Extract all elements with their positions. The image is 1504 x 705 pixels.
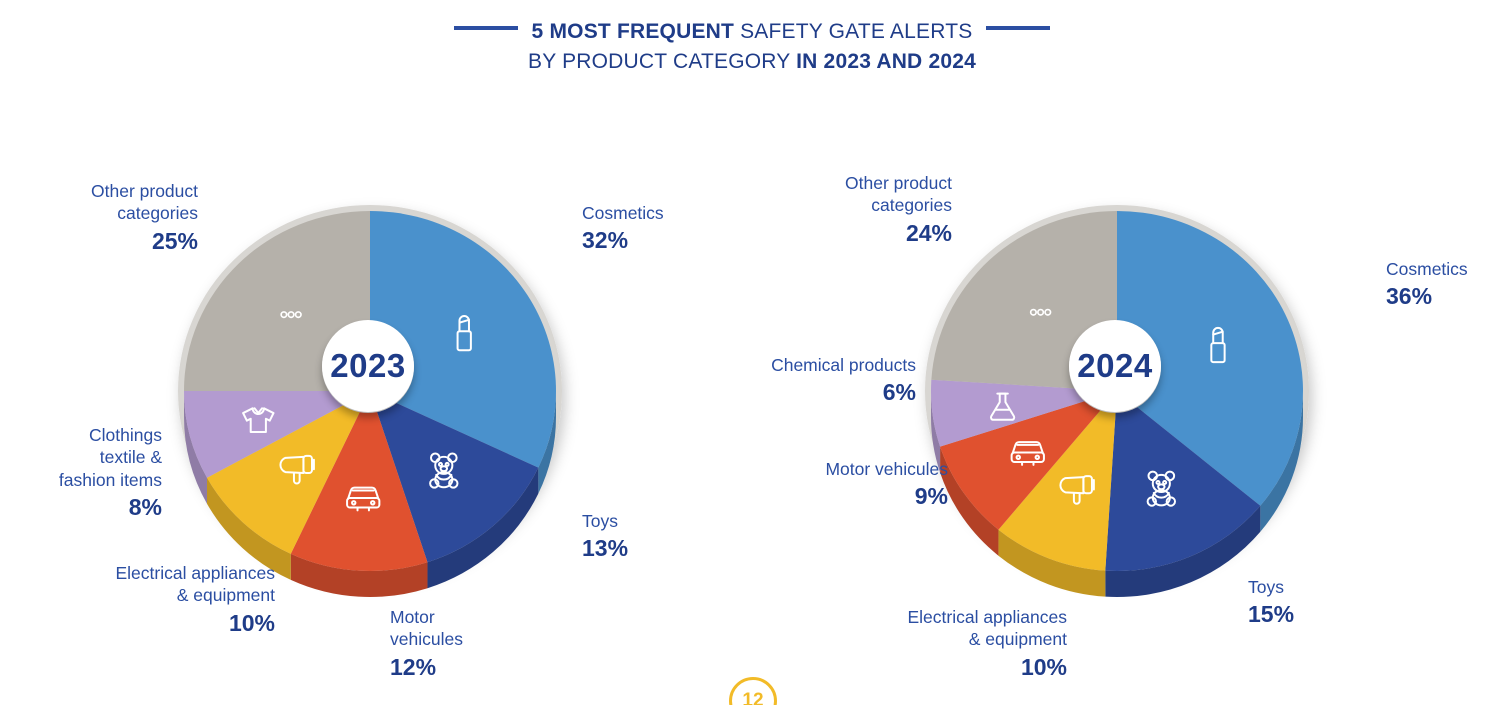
year-badge-2024: 2024: [1069, 320, 1161, 412]
label-cosmetics-2023: Cosmetics 32%: [582, 202, 752, 256]
label-motor-2024: Motor vehicules 9%: [780, 458, 948, 512]
value-motor-2024: 9%: [780, 482, 948, 511]
value-other-2023: 25%: [48, 227, 198, 256]
label-toys-2024: Toys 15%: [1248, 576, 1378, 630]
title-bold-1: 5 MOST FREQUENT: [532, 20, 735, 43]
title-normal-2: BY PRODUCT CATEGORY: [528, 50, 796, 73]
label-electrical-2023: Electrical appliances & equipment 10%: [55, 562, 275, 638]
page-title: 5 MOST FREQUENT SAFETY GATE ALERTS BY PR…: [0, 18, 1504, 75]
value-cosmetics-2024: 36%: [1386, 282, 1504, 311]
value-other-2024: 24%: [800, 219, 952, 248]
value-clothing-2023: 8%: [22, 493, 162, 522]
label-chemical-2024: Chemical products 6%: [718, 354, 916, 408]
title-rule-right: [986, 26, 1050, 30]
label-cosmetics-2024: Cosmetics 36%: [1386, 258, 1504, 312]
title-rule-left: [454, 26, 518, 30]
title-line-2: BY PRODUCT CATEGORY IN 2023 AND 2024: [0, 48, 1504, 76]
value-electrical-2024: 10%: [845, 653, 1067, 682]
value-toys-2023: 13%: [582, 534, 732, 563]
label-toys-2023: Toys 13%: [582, 510, 732, 564]
label-other-2024: Other product categories 24%: [800, 172, 952, 248]
value-electrical-2023: 10%: [55, 609, 275, 638]
value-toys-2024: 15%: [1248, 600, 1378, 629]
value-motor-2023: 12%: [390, 653, 540, 682]
label-other-2023: Other product categories 25%: [48, 180, 198, 256]
title-line-1: 5 MOST FREQUENT SAFETY GATE ALERTS: [0, 18, 1504, 46]
year-badge-2023: 2023: [322, 320, 414, 412]
title-normal-1: SAFETY GATE ALERTS: [734, 20, 972, 43]
infographic-page: 5 MOST FREQUENT SAFETY GATE ALERTS BY PR…: [0, 0, 1504, 705]
label-clothing-2023: Clothings textile & fashion items 8%: [22, 424, 162, 523]
value-chemical-2024: 6%: [718, 378, 916, 407]
label-motor-2023: Motor vehicules 12%: [390, 606, 540, 682]
title-bold-2: IN 2023 AND 2024: [796, 50, 976, 73]
value-cosmetics-2023: 32%: [582, 226, 752, 255]
label-electrical-2024: Electrical appliances & equipment 10%: [845, 606, 1067, 682]
page-number-badge: 12: [729, 677, 777, 705]
